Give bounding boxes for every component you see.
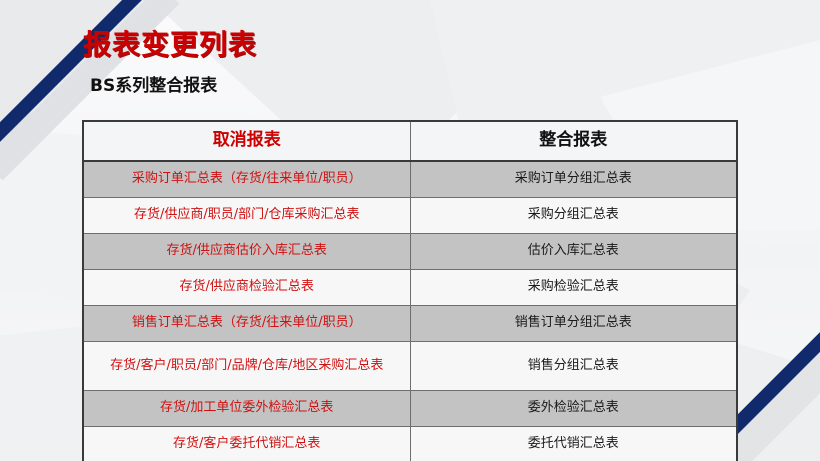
cell-cancelled-report: 存货/供应商估价入库汇总表 [83,234,410,270]
column-header-merged-reports: 整合报表 [410,121,737,161]
cell-merged-report: 估价入库汇总表 [410,234,737,270]
cell-merged-report: 采购检验汇总表 [410,270,737,306]
cell-cancelled-report: 销售订单汇总表（存货/往来单位/职员） [83,306,410,342]
slide-canvas: 报表变更列表 BS系列整合报表 取消报表 整合报表 采购订单汇总表（存货/往来单… [0,0,820,461]
table-row: 存货/供应商估价入库汇总表 估价入库汇总表 [83,234,737,270]
cell-merged-report: 委外检验汇总表 [410,391,737,427]
cell-merged-report: 委托代销汇总表 [410,427,737,461]
cell-merged-report: 采购订单分组汇总表 [410,161,737,198]
cell-merged-report: 销售订单分组汇总表 [410,306,737,342]
table-row: 存货/供应商检验汇总表 采购检验汇总表 [83,270,737,306]
column-header-cancelled-reports: 取消报表 [83,121,410,161]
cell-merged-report: 销售分组汇总表 [410,342,737,391]
table-row: 采购订单汇总表（存货/往来单位/职员） 采购订单分组汇总表 [83,161,737,198]
report-change-table: 取消报表 整合报表 采购订单汇总表（存货/往来单位/职员） 采购订单分组汇总表 … [82,120,738,461]
table-row: 存货/供应商/职员/部门/仓库采购汇总表 采购分组汇总表 [83,198,737,234]
table-row: 存货/客户/职员/部门/品牌/仓库/地区采购汇总表 销售分组汇总表 [83,342,737,391]
table-row: 存货/加工单位委外检验汇总表 委外检验汇总表 [83,391,737,427]
cell-merged-report: 采购分组汇总表 [410,198,737,234]
page-title: 报表变更列表 [83,23,257,63]
cell-cancelled-report: 存货/加工单位委外检验汇总表 [83,391,410,427]
page-subtitle: BS系列整合报表 [90,71,217,96]
table-header-row: 取消报表 整合报表 [83,121,737,161]
cell-cancelled-report: 存货/供应商/职员/部门/仓库采购汇总表 [83,198,410,234]
table-row: 销售订单汇总表（存货/往来单位/职员） 销售订单分组汇总表 [83,306,737,342]
cell-cancelled-report: 存货/客户/职员/部门/品牌/仓库/地区采购汇总表 [83,342,410,391]
cell-cancelled-report: 存货/客户委托代销汇总表 [83,427,410,461]
cell-cancelled-report: 存货/供应商检验汇总表 [83,270,410,306]
report-change-table-container: 取消报表 整合报表 采购订单汇总表（存货/往来单位/职员） 采购订单分组汇总表 … [82,120,738,461]
cell-cancelled-report: 采购订单汇总表（存货/往来单位/职员） [83,161,410,198]
table-row: 存货/客户委托代销汇总表 委托代销汇总表 [83,427,737,461]
